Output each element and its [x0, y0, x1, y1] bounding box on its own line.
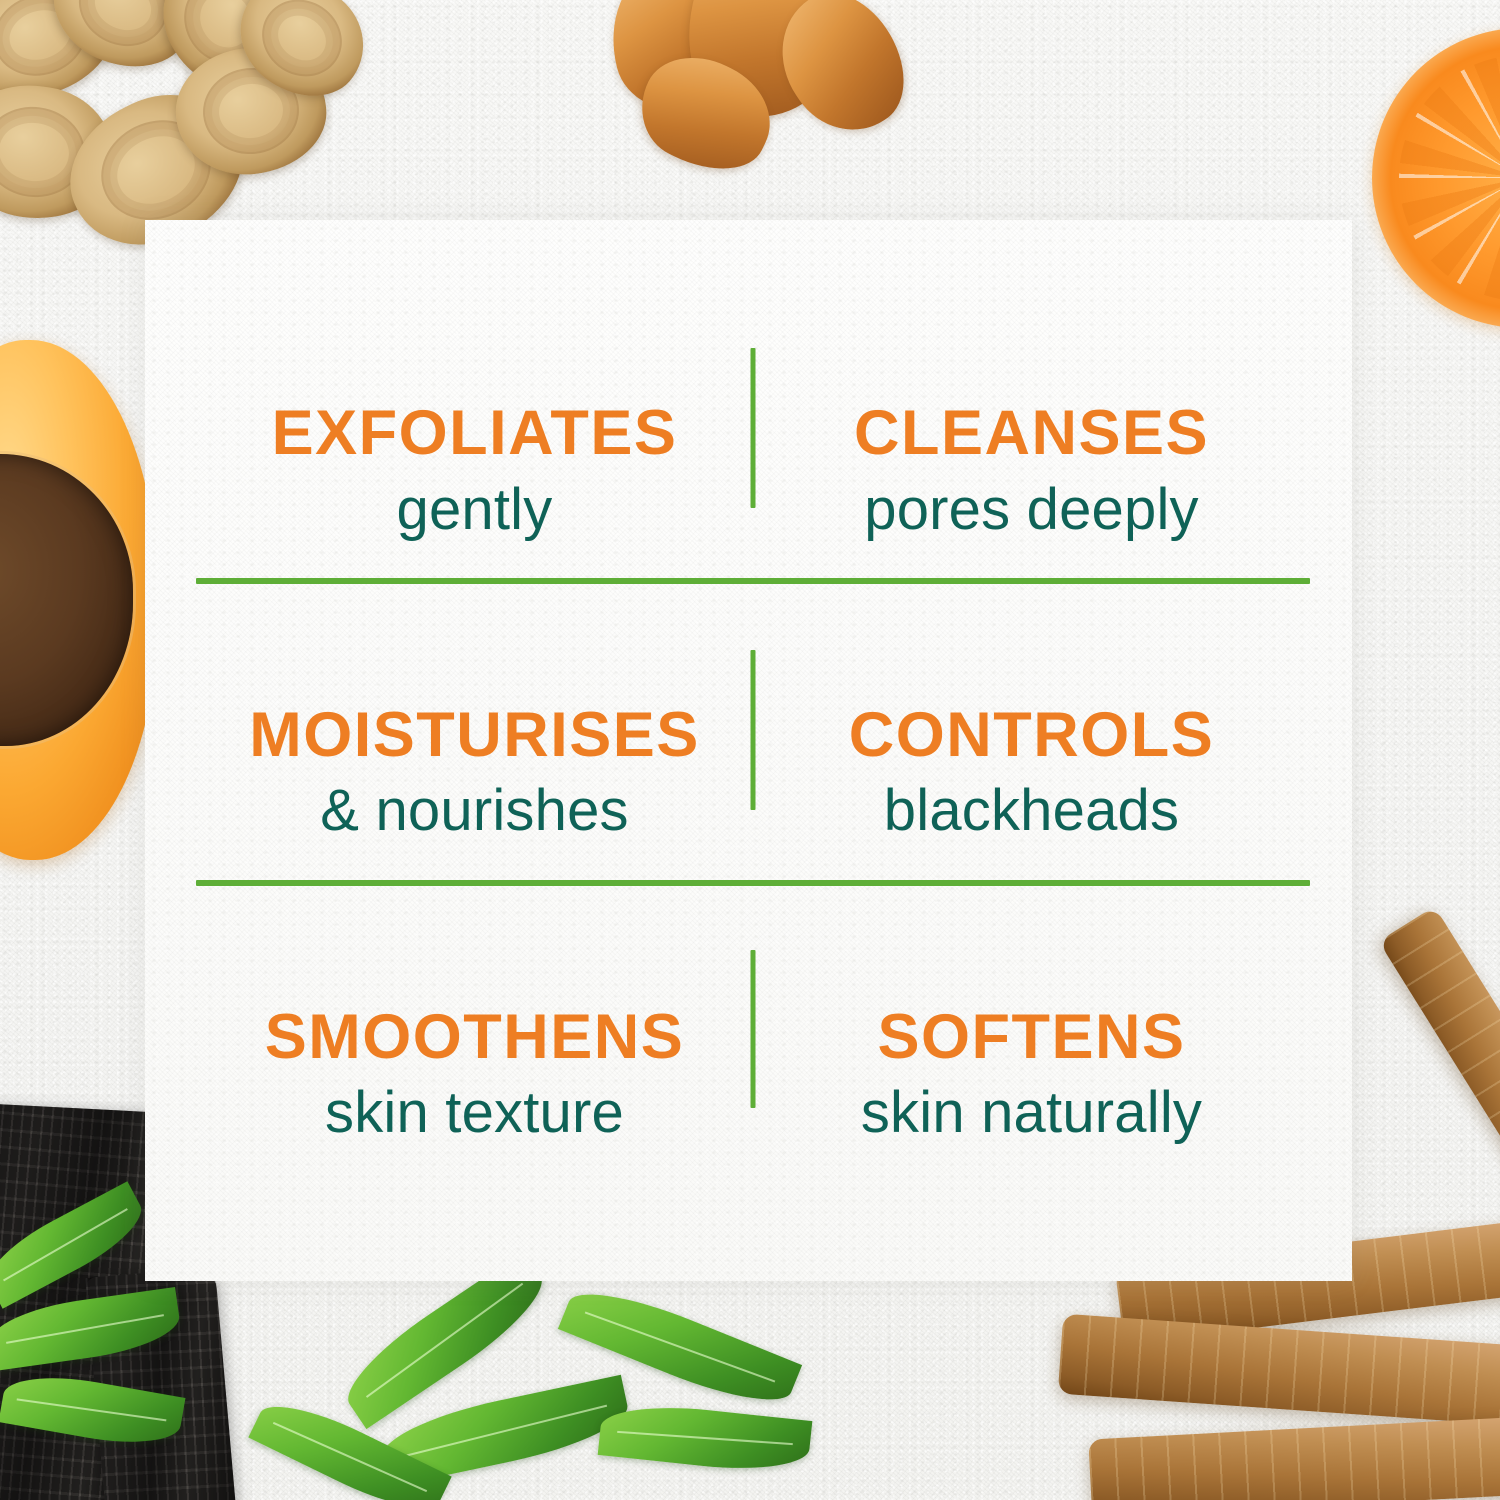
horizontal-divider-1 — [196, 578, 1310, 584]
vertical-divider-row3 — [751, 950, 756, 1108]
benefit-subline: skin texture — [325, 1083, 624, 1144]
benefit-subline: pores deeply — [864, 480, 1199, 541]
vertical-divider-row2 — [751, 650, 756, 810]
benefit-cell-controls: CONTROLS blackheads — [753, 622, 1310, 924]
benefit-subline: gently — [397, 480, 553, 541]
benefit-headline: CONTROLS — [849, 703, 1214, 767]
benefit-subline: & nourishes — [320, 781, 628, 842]
benefit-subline: blackheads — [884, 781, 1179, 842]
benefit-cell-moisturises: MOISTURISES & nourishes — [196, 622, 753, 924]
benefit-headline: EXFOLIATES — [272, 401, 678, 465]
benefits-grid: EXFOLIATES gently CLEANSES pores deeply … — [196, 320, 1310, 1225]
apricot-kernel-icon — [0, 454, 133, 745]
benefit-headline: SMOOTHENS — [265, 1005, 685, 1069]
benefits-card: EXFOLIATES gently CLEANSES pores deeply … — [145, 220, 1352, 1281]
benefits-infographic: EXFOLIATES gently CLEANSES pores deeply … — [0, 0, 1500, 1500]
horizontal-divider-2 — [196, 880, 1310, 886]
benefit-cell-exfoliates: EXFOLIATES gently — [196, 320, 753, 622]
benefit-headline: SOFTENS — [877, 1005, 1185, 1069]
benefit-cell-smoothens: SMOOTHENS skin texture — [196, 923, 753, 1225]
benefit-subline: skin naturally — [861, 1083, 1202, 1144]
benefit-cell-cleanses: CLEANSES pores deeply — [753, 320, 1310, 622]
vertical-divider-row1 — [751, 348, 756, 508]
benefit-headline: CLEANSES — [854, 401, 1209, 465]
charcoal-bark-icon — [85, 1267, 236, 1500]
benefit-headline: MOISTURISES — [249, 703, 700, 767]
benefit-cell-softens: SOFTENS skin naturally — [753, 923, 1310, 1225]
